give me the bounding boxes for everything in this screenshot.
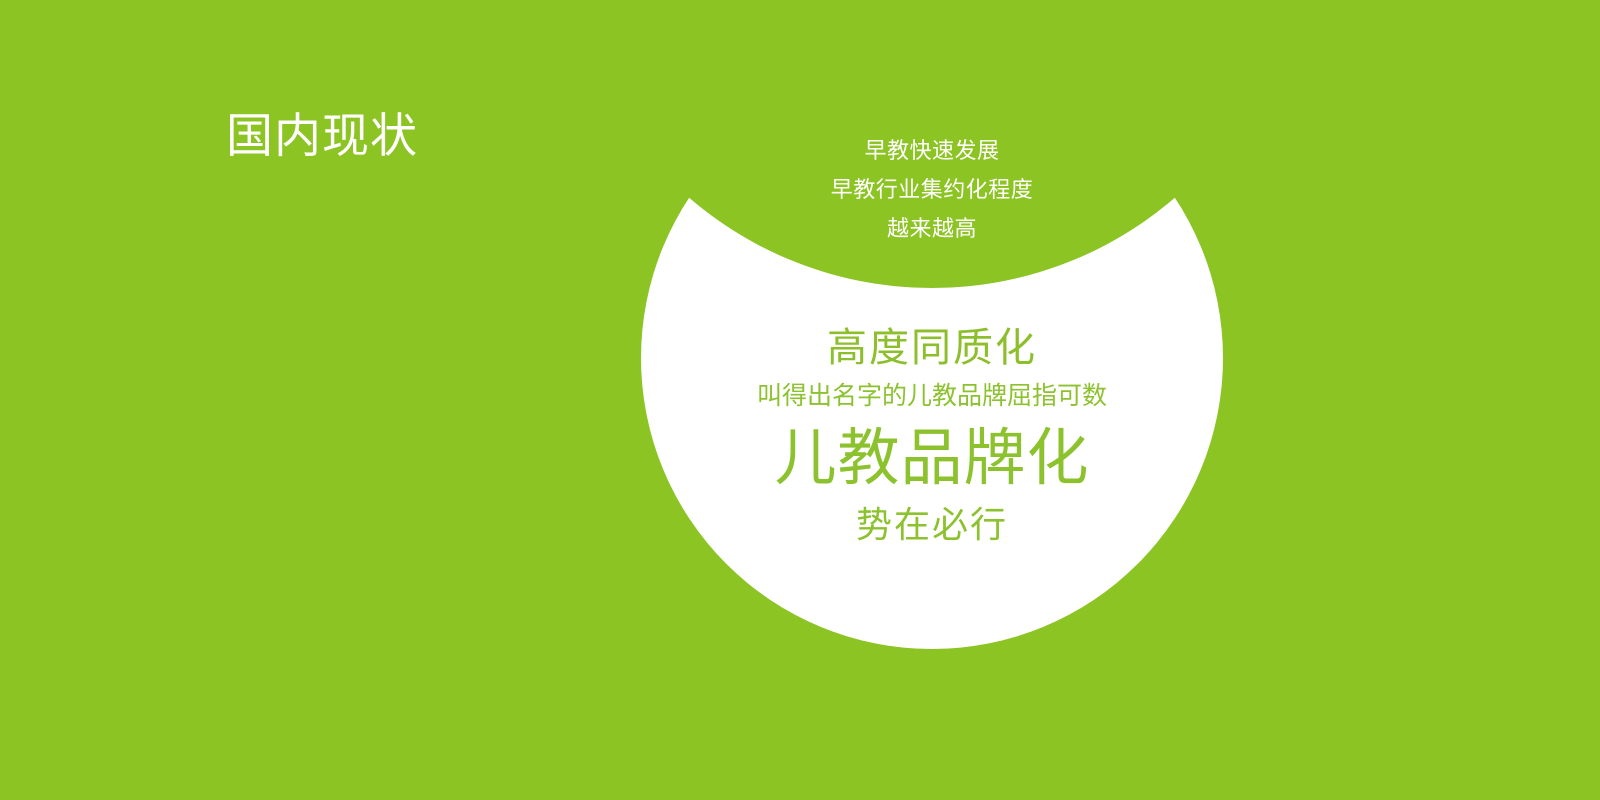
inner-callout-block: 高度同质化 叫得出名字的儿教品牌屈指可数 儿教品牌化 势在必行 xyxy=(632,322,1232,550)
inner-subtext-secondary: 势在必行 xyxy=(632,500,1232,550)
top-callout-line-1: 早教快速发展 xyxy=(632,131,1232,170)
slide-canvas: 国内现状 早教快速发展 早教行业集约化程度 越来越高 高度同质化 叫得出名字的儿… xyxy=(0,0,1600,800)
inner-headline-primary: 高度同质化 xyxy=(632,322,1232,374)
top-callout-line-2: 早教行业集约化程度 xyxy=(632,170,1232,209)
inner-subtext-primary: 叫得出名字的儿教品牌屈指可数 xyxy=(632,374,1232,418)
top-callout-block: 早教快速发展 早教行业集约化程度 越来越高 xyxy=(632,131,1232,248)
inner-headline-secondary: 儿教品牌化 xyxy=(632,418,1232,500)
top-callout-line-3: 越来越高 xyxy=(632,209,1232,248)
page-title: 国内现状 xyxy=(226,112,418,159)
